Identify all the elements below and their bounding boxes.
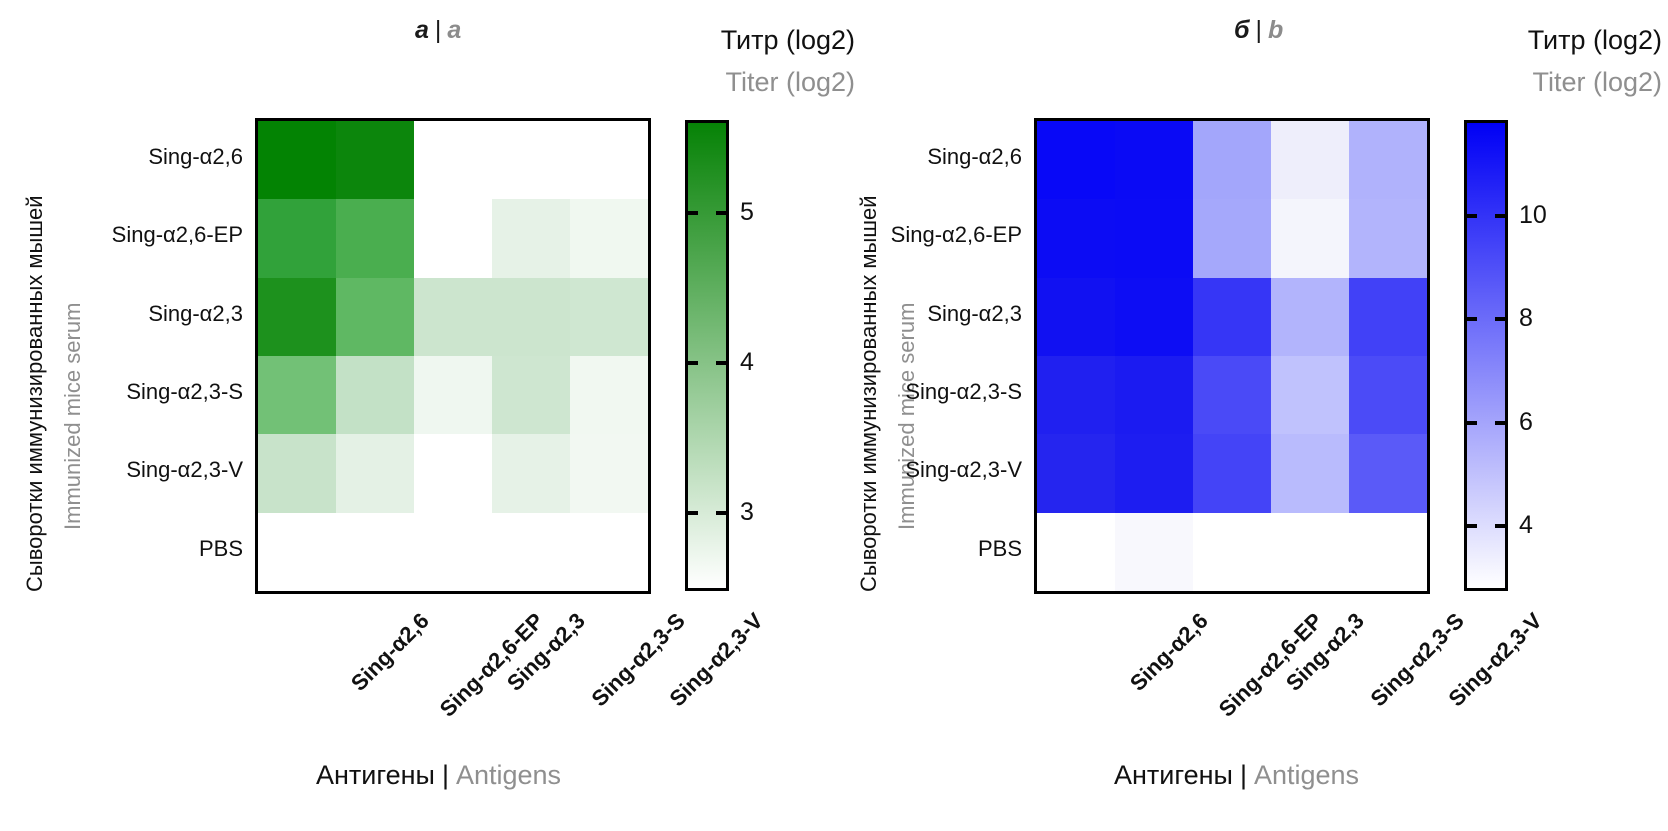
panel-b-title-en: b (1268, 16, 1283, 44)
panel-b-x-axis-title-separator: | (1240, 760, 1247, 790)
heatmap-cell[interactable] (336, 278, 414, 356)
y-tick-label: Sing-α2,6 (894, 118, 1034, 196)
panel-a-colorbar-title-ru: Титр (log2) (600, 20, 855, 62)
panel-b-title-ru: б (1234, 16, 1249, 44)
panel-b-title: б|b (1234, 16, 1283, 45)
panel-b-x-axis-title-en: Antigens (1254, 760, 1359, 790)
heatmap-cell[interactable] (1115, 434, 1193, 512)
panel-b-x-tick-labels: Sing-α2,6Sing-α2,6-EPSing-α2,3Sing-α2,3-… (1034, 600, 1424, 720)
heatmap-cell[interactable] (570, 513, 648, 591)
y-tick-label: Sing-α2,3 (60, 275, 255, 353)
heatmap-cell[interactable] (1349, 278, 1427, 356)
heatmap-cell[interactable] (336, 199, 414, 277)
panel-b-heatmap-grid (1037, 121, 1427, 591)
heatmap-cell[interactable] (414, 513, 492, 591)
heatmap-cell[interactable] (1115, 199, 1193, 277)
heatmap-cell[interactable] (1349, 121, 1427, 199)
y-tick-label: Sing-α2,3 (894, 275, 1034, 353)
heatmap-cell[interactable] (570, 199, 648, 277)
colorbar-tick-label: 4 (1519, 511, 1533, 540)
heatmap-cell[interactable] (414, 121, 492, 199)
panel-a-title-ru: а (415, 16, 429, 44)
heatmap-cell[interactable] (1271, 356, 1349, 434)
panel-a-title: а|a (415, 16, 461, 45)
heatmap-cell[interactable] (1193, 513, 1271, 591)
heatmap-cell[interactable] (1271, 513, 1349, 591)
heatmap-cell[interactable] (258, 121, 336, 199)
heatmap-cell[interactable] (258, 199, 336, 277)
heatmap-cell[interactable] (1115, 513, 1193, 591)
heatmap-cell[interactable] (414, 434, 492, 512)
colorbar-tick-label: 4 (740, 348, 754, 377)
heatmap-cell[interactable] (1115, 356, 1193, 434)
panel-b-colorbar-ticks: 10864 (1467, 123, 1505, 588)
panel-a-x-tick-labels: Sing-α2,6Sing-α2,6-EPSing-α2,3Sing-α2,3-… (255, 600, 645, 720)
colorbar-tick-label: 5 (740, 198, 754, 227)
y-tick-label: Sing-α2,3-V (60, 431, 255, 509)
panel-a-x-axis-title-ru: Антигены (316, 760, 435, 790)
panel-a-title-separator: | (435, 16, 442, 44)
heatmap-cell[interactable] (258, 513, 336, 591)
heatmap-cell[interactable] (1037, 199, 1115, 277)
panel-a-colorbar-title-en: Titer (log2) (600, 62, 855, 104)
heatmap-cell[interactable] (258, 434, 336, 512)
panel-a: а|a Титр (log2) Titer (log2) Сыворотки и… (0, 0, 834, 831)
panel-b-colorbar[interactable]: 10864 (1464, 120, 1508, 591)
panel-b-y-axis-title: Сыворотки иммунизированных мышей (858, 195, 880, 592)
panel-b-heatmap[interactable] (1034, 118, 1430, 594)
heatmap-cell[interactable] (1271, 121, 1349, 199)
heatmap-cell[interactable] (1037, 434, 1115, 512)
panel-a-y-axis-title-ru: Сыворотки иммунизированных мышей (22, 195, 47, 592)
panel-b-title-separator: | (1255, 16, 1262, 44)
panel-a-x-axis-title-en: Antigens (456, 760, 561, 790)
panel-a-y-axis-title: Сыворотки иммунизированных мышей (24, 195, 46, 592)
heatmap-cell[interactable] (1115, 278, 1193, 356)
colorbar-tick-label: 6 (1519, 408, 1533, 437)
heatmap-cell[interactable] (492, 278, 570, 356)
panel-a-x-axis-title-separator: | (442, 760, 449, 790)
y-tick-label: Sing-α2,3-S (60, 353, 255, 431)
heatmap-cell[interactable] (414, 356, 492, 434)
heatmap-cell[interactable] (1349, 199, 1427, 277)
y-tick-label: Sing-α2,3-S (894, 353, 1034, 431)
heatmap-cell[interactable] (1037, 121, 1115, 199)
heatmap-cell[interactable] (1349, 356, 1427, 434)
y-tick-label: Sing-α2,6-EP (894, 196, 1034, 274)
y-tick-label: Sing-α2,6-EP (60, 196, 255, 274)
heatmap-cell[interactable] (570, 434, 648, 512)
heatmap-cell[interactable] (414, 199, 492, 277)
panel-b: б|b Титр (log2) Titer (log2) Сыворотки и… (834, 0, 1668, 831)
panel-a-title-en: a (447, 16, 461, 44)
colorbar-tick-label: 3 (740, 498, 754, 527)
colorbar-tick-label: 10 (1519, 201, 1547, 230)
heatmap-cell[interactable] (492, 513, 570, 591)
heatmap-cell[interactable] (1037, 513, 1115, 591)
panel-a-y-tick-labels: Sing-α2,6 Sing-α2,6-EP Sing-α2,3 Sing-α2… (60, 118, 255, 588)
heatmap-cell[interactable] (336, 513, 414, 591)
heatmap-cell[interactable] (1349, 434, 1427, 512)
panel-b-x-axis-title-ru: Антигены (1114, 760, 1233, 790)
heatmap-cell[interactable] (1193, 278, 1271, 356)
heatmap-cell[interactable] (1193, 199, 1271, 277)
x-tick-label: Sing-α2,6 (1125, 608, 1213, 696)
panel-b-colorbar-title-en: Titer (log2) (1404, 62, 1662, 104)
panel-b-y-tick-labels: Sing-α2,6 Sing-α2,6-EP Sing-α2,3 Sing-α2… (894, 118, 1034, 588)
y-tick-label: Sing-α2,6 (60, 118, 255, 196)
heatmap-cell[interactable] (570, 278, 648, 356)
panel-b-colorbar-title-ru: Титр (log2) (1404, 20, 1662, 62)
heatmap-cell[interactable] (1349, 513, 1427, 591)
heatmap-cell[interactable] (1037, 356, 1115, 434)
heatmap-cell[interactable] (1193, 356, 1271, 434)
y-tick-label: Sing-α2,3-V (894, 431, 1034, 509)
colorbar-tick-label: 8 (1519, 304, 1533, 333)
heatmap-cell[interactable] (492, 356, 570, 434)
y-tick-label: PBS (60, 510, 255, 588)
heatmap-cell[interactable] (258, 356, 336, 434)
panel-b-y-axis-title-ru: Сыворотки иммунизированных мышей (856, 195, 881, 592)
panel-a-x-axis-title: Антигены|Antigens (316, 760, 561, 791)
heatmap-cell[interactable] (258, 278, 336, 356)
heatmap-cell[interactable] (336, 121, 414, 199)
heatmap-cell[interactable] (570, 356, 648, 434)
heatmap-cell[interactable] (1271, 434, 1349, 512)
heatmap-cell[interactable] (414, 278, 492, 356)
heatmap-cell[interactable] (336, 434, 414, 512)
panel-b-x-axis-title: Антигены|Antigens (1114, 760, 1359, 791)
heatmap-cell[interactable] (1037, 278, 1115, 356)
heatmap-cell[interactable] (570, 121, 648, 199)
x-tick-label: Sing-α2,6 (346, 608, 434, 696)
panel-a-colorbar-title: Титр (log2) Titer (log2) (600, 20, 855, 104)
heatmap-cell[interactable] (1193, 121, 1271, 199)
panel-a-colorbar-ticks: 543 (688, 123, 726, 588)
y-tick-label: PBS (894, 510, 1034, 588)
heatmap-cell[interactable] (1115, 121, 1193, 199)
heatmap-cell[interactable] (1271, 278, 1349, 356)
panel-a-colorbar[interactable]: 543 (685, 120, 729, 591)
heatmap-cell[interactable] (1271, 199, 1349, 277)
panel-a-heatmap[interactable] (255, 118, 651, 594)
heatmap-cell[interactable] (1193, 434, 1271, 512)
heatmap-cell[interactable] (492, 121, 570, 199)
heatmap-cell[interactable] (492, 199, 570, 277)
panel-a-heatmap-grid (258, 121, 648, 591)
panel-b-colorbar-title: Титр (log2) Titer (log2) (1404, 20, 1662, 104)
heatmap-cell[interactable] (336, 356, 414, 434)
heatmap-cell[interactable] (492, 434, 570, 512)
